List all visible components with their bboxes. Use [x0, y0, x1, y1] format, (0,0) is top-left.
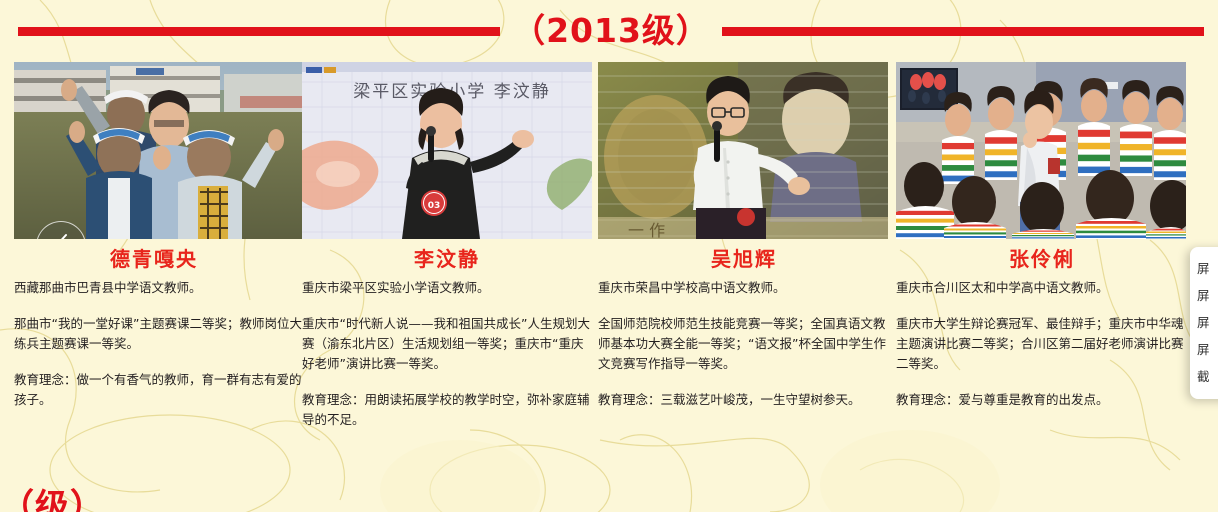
teacher-info: 重庆市荣昌中学校高中语文教师。 全国师范院校师范生技能竞赛一等奖；全国真语文教师…	[598, 278, 888, 410]
teacher-philosophy: 教育理念：做一个有香气的教师，育一群有志有爱的孩子。	[14, 370, 304, 410]
teacher-photo-1	[14, 62, 304, 239]
teacher-info: 重庆市梁平区实验小学语文教师。 重庆市“时代新人说——我和祖国共成长”人生规划大…	[302, 278, 592, 430]
teacher-awards: 全国师范院校师范生技能竞赛一等奖；全国真语文教师基本功大赛全能一等奖；“语文报”…	[598, 314, 888, 374]
teacher-name: 张伶俐	[896, 247, 1188, 271]
teacher-philosophy: 教育理念：三载滋艺叶峻茂，一生守望树参天。	[598, 390, 888, 410]
teacher-photo-3: 一 作	[598, 62, 888, 239]
teacher-role: 重庆市梁平区实验小学语文教师。	[302, 278, 592, 298]
teacher-photo-4	[896, 62, 1186, 239]
teacher-role: 重庆市荣昌中学校高中语文教师。	[598, 278, 888, 298]
teacher-awards: 那曲市“我的一堂好课”主题赛课二等奖；教师岗位大练兵主题赛课一等奖。	[14, 314, 304, 354]
header-rule-right	[722, 27, 1204, 36]
teacher-name: 德青嘎央	[14, 247, 294, 271]
svg-text:一 作: 一 作	[628, 221, 665, 239]
chevron-left-icon	[53, 233, 70, 239]
teacher-card: 梁平区实验小学 李汶静 03 李汶静 重庆市梁平区实验小学语文教师。	[298, 62, 596, 430]
teacher-philosophy: 教育理念：爱与尊重是教育的出发点。	[896, 390, 1186, 410]
teacher-philosophy: 教育理念：用朗读拓展学校的教学时空，弥补家庭辅导的不足。	[302, 390, 592, 430]
teacher-awards: 重庆市“时代新人说——我和祖国共成长”人生规划大赛（渝东北片区）生活规划组一等奖…	[302, 314, 592, 374]
teacher-card-list: 德青嘎央 西藏那曲市巴青县中学语文教师。 那曲市“我的一堂好课”主题赛课二等奖；…	[0, 62, 1218, 430]
teacher-info: 西藏那曲市巴青县中学语文教师。 那曲市“我的一堂好课”主题赛课二等奖；教师岗位大…	[14, 278, 304, 410]
teacher-role: 西藏那曲市巴青县中学语文教师。	[14, 278, 304, 298]
background-blob-1	[820, 430, 1000, 512]
teacher-info: 重庆市合川区太和中学高中语文教师。 重庆市大学生辩论赛冠军、最佳辩手；重庆市中华…	[896, 278, 1186, 410]
section-header: （2013级）	[0, 0, 1218, 60]
svg-text:03: 03	[428, 201, 441, 211]
background-blob-2	[380, 440, 540, 512]
next-section-heading: （级）	[0, 479, 105, 512]
tool-menu-item[interactable]: 截	[1190, 363, 1218, 390]
teacher-card: 一 作	[596, 62, 894, 430]
page-title: （2013级）	[508, 14, 714, 47]
teacher-role: 重庆市合川区太和中学高中语文教师。	[896, 278, 1186, 298]
tool-menu-item[interactable]: 屏	[1190, 336, 1218, 363]
teacher-name: 吴旭辉	[598, 247, 890, 271]
header-rule-left	[18, 27, 500, 36]
teacher-card: 张伶俐 重庆市合川区太和中学高中语文教师。 重庆市大学生辩论赛冠军、最佳辩手；重…	[894, 62, 1192, 430]
teacher-card: 德青嘎央 西藏那曲市巴青县中学语文教师。 那曲市“我的一堂好课”主题赛课二等奖；…	[0, 62, 298, 430]
teacher-name: 李汶静	[302, 247, 592, 271]
tool-menu-item[interactable]: 屏	[1190, 282, 1218, 309]
teacher-awards: 重庆市大学生辩论赛冠军、最佳辩手；重庆市中华魂主题演讲比赛二等奖；合川区第二届好…	[896, 314, 1186, 374]
tool-menu-item[interactable]: 屏	[1190, 309, 1218, 336]
screenshot-tool-panel[interactable]: 屏 屏 屏 屏 截	[1190, 247, 1218, 399]
tool-menu-item[interactable]: 屏	[1190, 255, 1218, 282]
teacher-photo-2: 梁平区实验小学 李汶静 03	[302, 62, 592, 239]
